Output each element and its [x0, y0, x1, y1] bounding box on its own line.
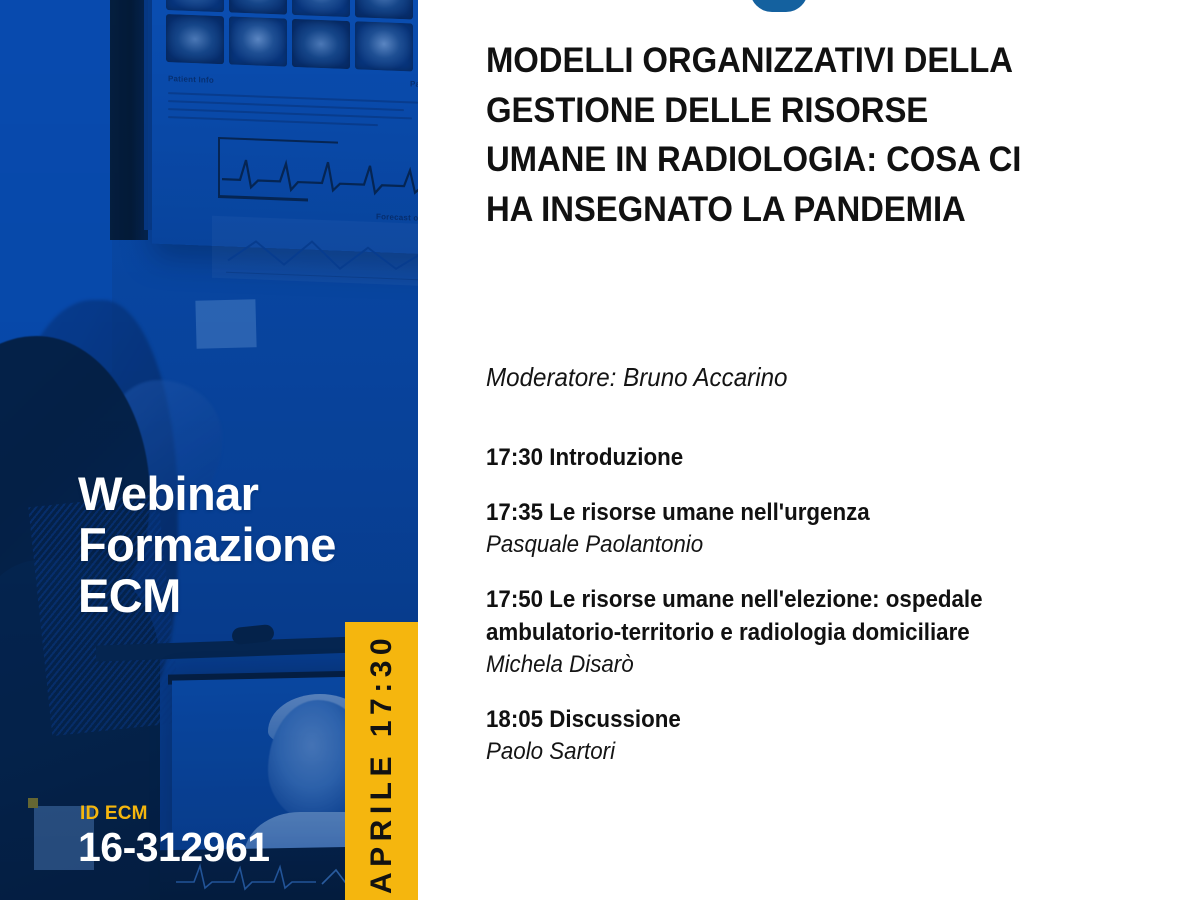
program-item-speaker: Michela Disarò [486, 649, 1137, 682]
program-item-title: 17:35 Le risorse umane nell'urgenza [486, 497, 1137, 530]
session-title: MODELLI ORGANIZZATIVI DELLA GESTIONE DEL… [486, 36, 1050, 235]
right-content-panel: MODELLI ORGANIZZATIVI DELLA GESTIONE DEL… [418, 0, 1200, 900]
webinar-title: Webinar Formazione ECM [78, 468, 368, 622]
program-item-speaker: Paolo Sartori [486, 736, 1137, 769]
program-item-title: ambulatorio-territorio e radiologia domi… [486, 617, 1137, 650]
id-ecm-label: ID ECM [80, 803, 148, 825]
program-item: 17:30 Introduzione [486, 442, 1186, 475]
program-item: 17:50 Le risorse umane nell'elezione: os… [486, 584, 1186, 682]
program-item-title: 17:30 Introduzione [486, 442, 1137, 475]
moderator-line: Moderatore: Bruno Accarino [486, 362, 1100, 393]
program-schedule: 17:30 Introduzione17:35 Le risorse umane… [486, 442, 1186, 791]
program-item-title: 18:05 Discussione [486, 704, 1137, 737]
program-item-speaker: Pasquale Paolantonio [486, 529, 1137, 562]
webinar-poster: Patient Info Pat Forecast of dise [0, 0, 1200, 900]
date-time-label: APRILE 17:30 [345, 622, 418, 900]
program-item: 18:05 DiscussionePaolo Sartori [486, 704, 1186, 769]
date-time-bar: APRILE 17:30 [345, 622, 418, 900]
id-ecm-value: 16-312961 [78, 824, 270, 871]
program-item-title: 17:50 Le risorse umane nell'elezione: os… [486, 584, 1137, 617]
logo-partial-icon [750, 0, 808, 12]
program-item: 17:35 Le risorse umane nell'urgenzaPasqu… [486, 497, 1186, 562]
